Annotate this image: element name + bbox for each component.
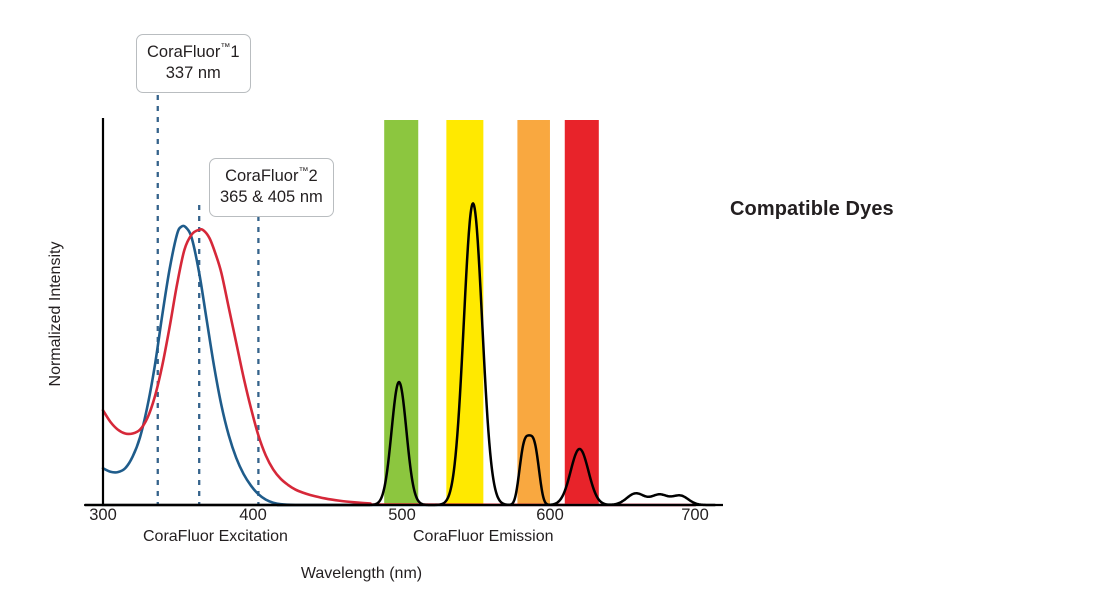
callout1-line2: 337 nm [147,63,240,84]
excitation-marker-layer [158,95,259,505]
callout2-line1: CoraFluor™2 [220,166,323,187]
callout2-line2: 365 & 405 nm [220,187,323,208]
x-tick-500: 500 [372,506,432,525]
x-tick-400: 400 [223,506,283,525]
x-tick-600: 600 [520,506,580,525]
callout-corafluor1: CoraFluor™1 337 nm [136,34,251,93]
callout1-line1: CoraFluor™1 [147,42,240,63]
figure-canvas: CoraFluor™1 337 nm CoraFluor™2 365 & 405… [0,0,1110,612]
x-tick-700: 700 [665,506,725,525]
callout2-number: 2 [308,167,317,185]
callout1-number: 1 [230,43,239,61]
y-axis-label: Normalized Intensity [47,214,65,414]
trademark-icon: ™ [298,166,308,177]
callout-corafluor2: CoraFluor™2 365 & 405 nm [209,158,334,217]
region-label-emission: CoraFluor Emission [413,528,553,546]
x-axis-label: Wavelength (nm) [0,565,723,583]
dye-band-layer [384,120,599,505]
callout2-brand: CoraFluor [225,167,298,185]
compatible-dyes-title: Compatible Dyes [730,198,894,221]
callout1-brand: CoraFluor [147,43,220,61]
dye-band-3 [565,120,599,505]
trademark-icon: ™ [220,42,230,53]
x-tick-300: 300 [73,506,133,525]
region-label-excitation: CoraFluor Excitation [143,528,288,546]
